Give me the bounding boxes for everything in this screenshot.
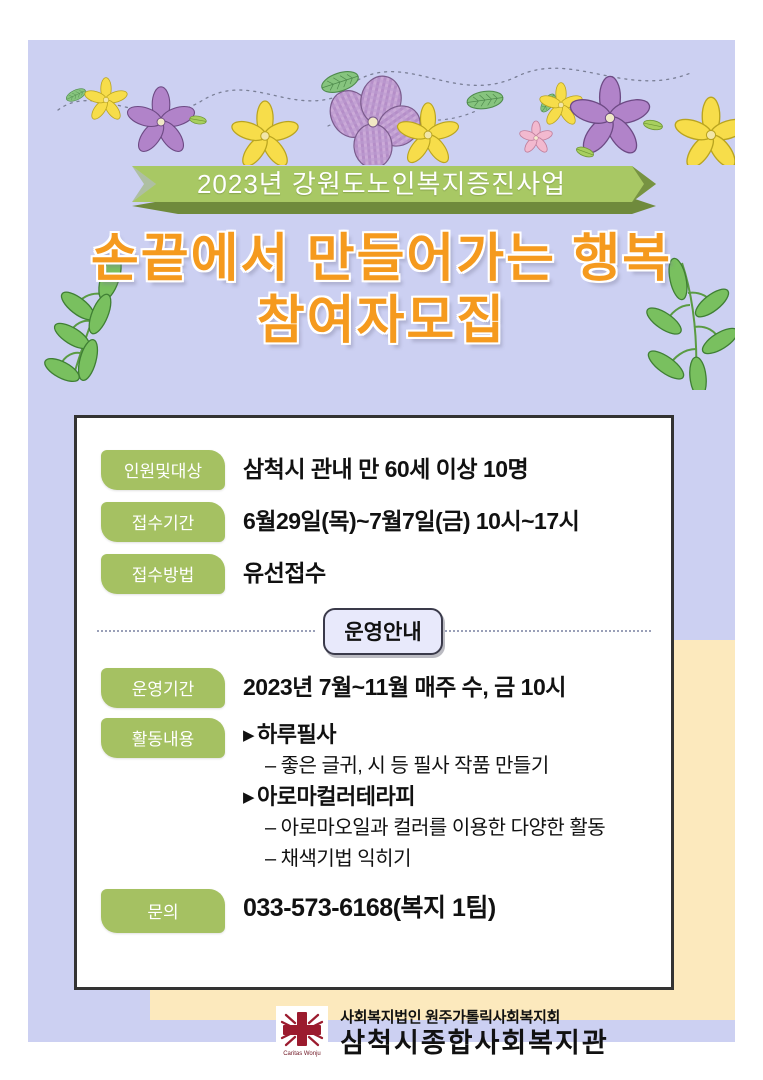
row-value: 2023년 7월~11월 매주 수, 금 10시 bbox=[243, 668, 671, 702]
table-row: 운영기간 2023년 7월~11월 매주 수, 금 10시 bbox=[77, 668, 671, 708]
caritas-wonju-logo-icon: Caritas Wonju bbox=[276, 1006, 328, 1063]
poster: 2023년 강원도노인복지증진사업 bbox=[28, 40, 735, 1042]
divider-dash-right bbox=[445, 630, 651, 632]
row-label-chip: 접수기간 bbox=[101, 502, 225, 542]
activity-list: ▶하루필사 –좋은 글귀, 시 등 필사 작품 만들기 ▶아로마컬러테라피 –아… bbox=[243, 718, 671, 875]
logo-caption: Caritas Wonju bbox=[284, 1051, 322, 1057]
activity-sub-text: 아로마오일과 컬러를 이용한 다양한 활동 bbox=[281, 817, 606, 839]
activity-sub: –좋은 글귀, 시 등 필사 작품 만들기 bbox=[243, 751, 671, 782]
row-value: 유선접수 bbox=[243, 554, 671, 588]
row-label-chip: 접수방법 bbox=[101, 554, 225, 594]
activity-row: 활동내용 ▶하루필사 –좋은 글귀, 시 등 필사 작품 만들기 ▶아로마컬러테… bbox=[77, 718, 671, 875]
contact-phone-number: 033-573-6168(복지 1팀) bbox=[243, 889, 671, 923]
organization-name: 삼척시종합사회복지관 bbox=[340, 1028, 608, 1059]
divider-dash-left bbox=[97, 630, 315, 632]
table-row: 인원및대상 삼척시 관내 만 60세 이상 10명 bbox=[77, 450, 671, 490]
contact-row: 문의 033-573-6168(복지 1팀) bbox=[77, 889, 671, 933]
row-value: 삼척시 관내 만 60세 이상 10명 bbox=[243, 450, 671, 484]
footer: Caritas Wonju 사회복지법인 원주가톨릭사회복지회 삼척시종합사회복… bbox=[150, 998, 735, 1070]
triangle-bullet-icon: ▶ bbox=[243, 789, 254, 806]
table-row: 접수방법 유선접수 bbox=[77, 554, 671, 594]
row-label-chip: 인원및대상 bbox=[101, 450, 225, 490]
activity-sub-text: 좋은 글귀, 시 등 필사 작품 만들기 bbox=[281, 755, 549, 777]
contact-label-chip: 문의 bbox=[101, 889, 225, 933]
page-title: 손끝에서 만들어가는 행복 참여자모집 bbox=[28, 228, 735, 352]
info-card: 인원및대상 삼척시 관내 만 60세 이상 10명 접수기간 6월29일(목)~… bbox=[74, 415, 674, 990]
row-value: 6월29일(목)~7월7일(금) 10시~17시 bbox=[243, 502, 671, 536]
floral-header-decoration bbox=[28, 40, 735, 165]
activity-sub: –아로마오일과 컬러를 이용한 다양한 활동 bbox=[243, 813, 671, 844]
row-label-chip: 운영기간 bbox=[101, 668, 225, 708]
operation-section: 운영기간 2023년 7월~11월 매주 수, 금 10시 활동내용 ▶하루필사… bbox=[77, 658, 671, 933]
section-divider: 운영안내 bbox=[77, 606, 671, 658]
dash-bullet-icon: – bbox=[265, 755, 276, 777]
row-label-chip: 활동내용 bbox=[101, 718, 225, 758]
title-line-2: 참여자모집 bbox=[28, 290, 735, 352]
table-row: 접수기간 6월29일(목)~7월7일(금) 10시~17시 bbox=[77, 502, 671, 542]
ribbon-title: 2023년 강원도노인복지증진사업 bbox=[28, 164, 735, 204]
footer-text: 사회복지법인 원주가톨릭사회복지회 삼척시종합사회복지관 bbox=[340, 1009, 608, 1059]
activity-head: ▶하루필사 bbox=[243, 720, 671, 751]
activity-head: ▶아로마컬러테라피 bbox=[243, 782, 671, 813]
activity-sub: –채색기법 익히기 bbox=[243, 844, 671, 875]
dash-bullet-icon: – bbox=[265, 817, 276, 839]
recruitment-section: 인원및대상 삼척시 관내 만 60세 이상 10명 접수기간 6월29일(목)~… bbox=[77, 418, 671, 594]
organization-subtitle: 사회복지법인 원주가톨릭사회복지회 bbox=[340, 1009, 608, 1026]
activity-head-text: 아로마컬러테라피 bbox=[257, 784, 415, 809]
activity-head-text: 하루필사 bbox=[257, 722, 336, 747]
section-pill-label: 운영안내 bbox=[323, 608, 443, 655]
dash-bullet-icon: – bbox=[265, 848, 276, 870]
activity-sub-text: 채색기법 익히기 bbox=[281, 848, 411, 870]
title-line-1: 손끝에서 만들어가는 행복 bbox=[28, 228, 735, 290]
triangle-bullet-icon: ▶ bbox=[243, 727, 254, 744]
